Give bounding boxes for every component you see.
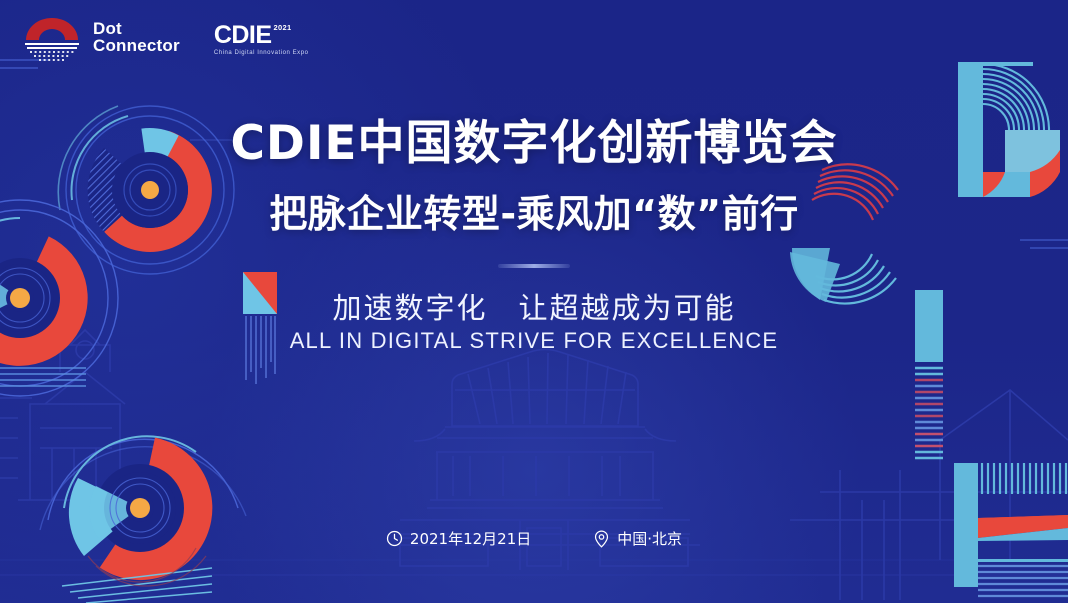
cdie-wordmark: CDIE [214, 23, 272, 48]
cdie-logo: CDIE2021 China Digital Innovation Expo [214, 21, 309, 56]
tagline-chinese: 加速数字化 让超越成为可能 [0, 285, 1068, 327]
event-date: 2021年12月21日 [386, 528, 531, 549]
page-subtitle: 把脉企业转型-乘风加“数”前行 [0, 183, 1068, 238]
cdie-year: 2021 [274, 23, 292, 32]
map-pin-icon [593, 530, 610, 548]
dot-connector-logo: Dot Connector [20, 14, 180, 62]
event-location-text: 中国·北京 [617, 528, 682, 549]
event-date-text: 2021年12月21日 [410, 528, 531, 549]
event-poster: Dot Connector CDIE2021 China Digital Inn… [0, 0, 1068, 603]
event-location: 中国·北京 [593, 528, 682, 549]
page-title: CDIE中国数字化创新博览会 [0, 104, 1068, 173]
title-divider [498, 264, 570, 268]
clock-icon [386, 530, 403, 547]
logo-bar: Dot Connector CDIE2021 China Digital Inn… [20, 14, 308, 62]
event-meta: 2021年12月21日 中国·北京 [0, 528, 1068, 549]
dot-connector-mark [20, 14, 84, 62]
tagline-english: ALL IN DIGITAL STRIVE FOR EXCELLENCE [0, 328, 1068, 354]
dot-connector-line2: Connector [93, 38, 180, 55]
cdie-subtitle: China Digital Innovation Expo [214, 50, 309, 56]
